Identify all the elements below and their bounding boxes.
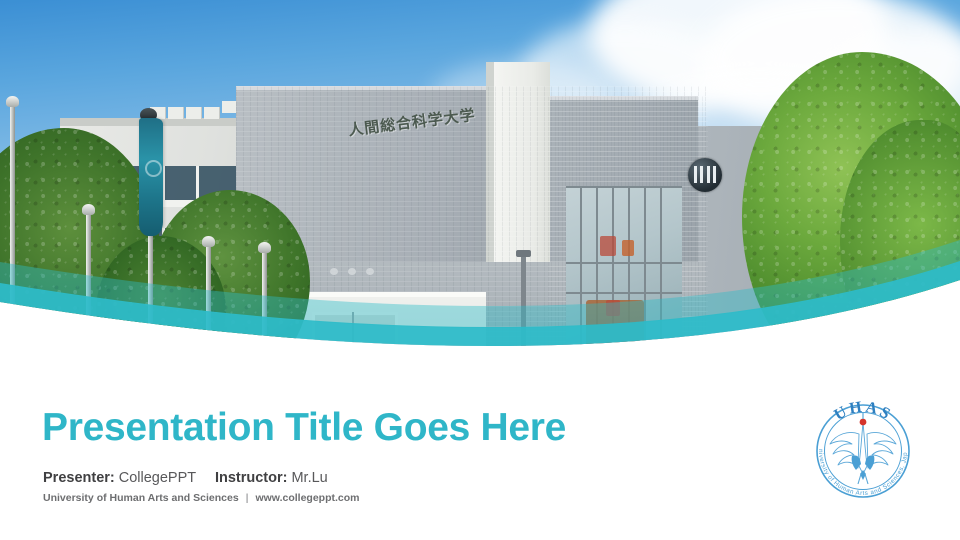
flag-emblem-icon <box>145 160 162 177</box>
downpipe <box>521 252 526 372</box>
atrium-orange-detail <box>622 240 634 256</box>
presenter-line: Presenter: CollegePPT Instructor: Mr.Lu <box>43 470 328 486</box>
campus-building-photo: 人間総合科学大学 <box>0 0 960 372</box>
website-url[interactable]: www.collegeppt.com <box>255 492 359 504</box>
presenter-name: CollegePPT <box>119 470 196 486</box>
text-divider: | <box>242 492 253 504</box>
organization-name: University of Human Arts and Sciences <box>43 492 239 504</box>
campus-flag <box>139 118 163 236</box>
uhas-logo: UHAS University of Human Arts and Scienc… <box>812 400 914 502</box>
facade-emblem-mark <box>694 166 716 183</box>
glass-atrium <box>566 186 682 372</box>
entrance-door <box>312 312 398 372</box>
instructor-label: Instructor: <box>215 470 288 486</box>
presentation-slide: 人間総合科学大学 <box>0 0 960 540</box>
atrium-red-detail <box>600 236 616 256</box>
page-title: Presentation Title Goes Here <box>42 406 566 450</box>
organization-line: University of Human Arts and Sciences | … <box>43 492 360 504</box>
presenter-label: Presenter: <box>43 470 115 486</box>
instructor-name: Mr.Lu <box>291 470 327 486</box>
atrium-red-detail-2 <box>606 300 620 316</box>
